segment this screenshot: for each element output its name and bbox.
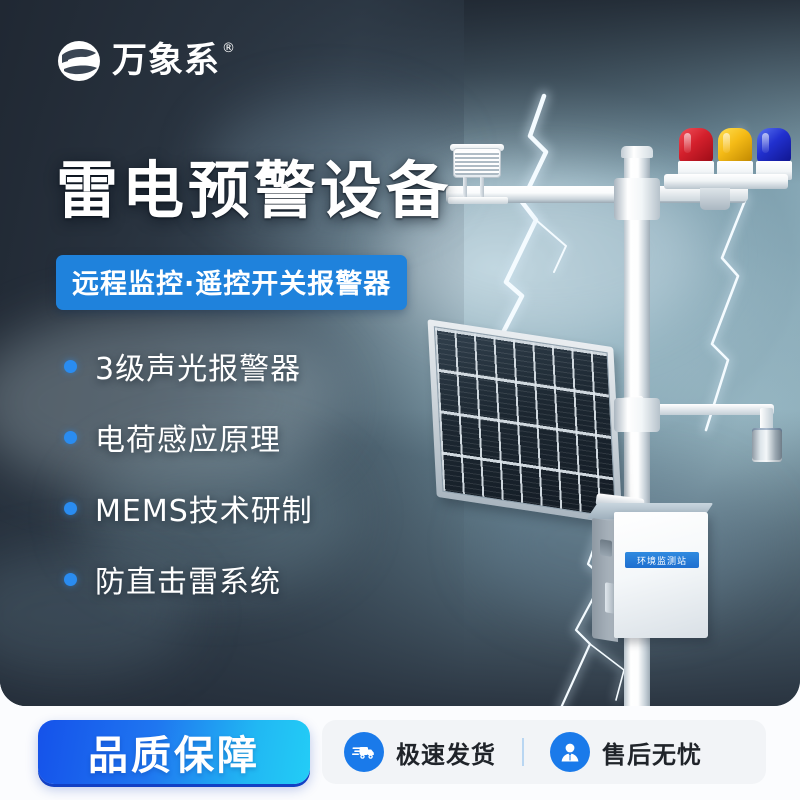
feature-label: MEMS技术研制 <box>95 486 313 530</box>
feature-label: 电荷感应原理 <box>95 415 281 459</box>
list-item: MEMS技术研制 <box>64 486 313 530</box>
product-banner: 环境监测站 万象系 ® 雷电预警设备 远程监控·遥控开关报警器 <box>0 0 800 800</box>
service-list: 极速发货 售后无忧 <box>322 720 766 784</box>
hero-image: 环境监测站 万象系 ® 雷电预警设备 远程监控·遥控开关报警器 <box>0 0 800 706</box>
feature-label: 防直击雷系统 <box>95 557 281 601</box>
registered-trademark-icon: ® <box>222 42 236 55</box>
swirl-globe-logo-icon <box>56 38 102 84</box>
subtitle-badge: 远程监控·遥控开关报警器 <box>56 255 407 310</box>
bullet-dot-icon <box>64 573 77 586</box>
feature-label: 3级声光报警器 <box>95 344 301 388</box>
bullet-dot-icon <box>64 360 77 373</box>
page-title: 雷电预警设备 <box>56 158 452 223</box>
list-item: 电荷感应原理 <box>64 415 313 459</box>
feature-list: 3级声光报警器 电荷感应原理 MEMS技术研制 防直击雷系统 <box>64 344 313 601</box>
service-divider <box>522 738 524 766</box>
service-item-shipping: 极速发货 <box>322 732 518 772</box>
service-label: 极速发货 <box>396 735 496 770</box>
quality-guarantee-label: 品质保障 <box>88 723 260 781</box>
brand-logo: 万象系 ® <box>56 38 220 84</box>
service-item-aftersales: 售后无忧 <box>528 732 724 772</box>
service-label: 售后无忧 <box>602 735 702 770</box>
brand-name: 万象系 ® <box>112 44 220 79</box>
list-item: 防直击雷系统 <box>64 557 313 601</box>
list-item: 3级声光报警器 <box>64 344 313 388</box>
customer-service-agent-icon <box>550 732 590 772</box>
bottom-trust-bar: 品质保障 极速发货 <box>0 706 800 800</box>
delivery-truck-icon <box>344 732 384 772</box>
brand-name-text: 万象系 <box>112 41 220 81</box>
bullet-dot-icon <box>64 502 77 515</box>
bullet-dot-icon <box>64 431 77 444</box>
quality-guarantee-badge: 品质保障 <box>38 720 310 784</box>
